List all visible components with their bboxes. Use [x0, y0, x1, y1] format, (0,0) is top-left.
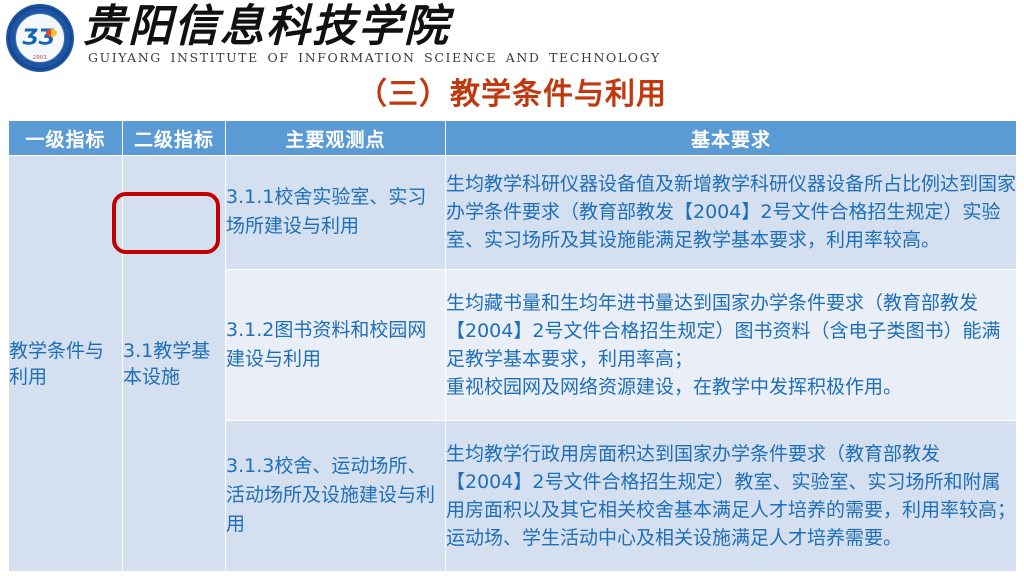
cell-level2: 3.1教学基本设施	[123, 156, 226, 572]
cell-requirement: 生均教学行政用房面积达到国家办学条件要求（教育部教发【2004】2号文件合格招生…	[446, 420, 1017, 571]
cell-requirement: 生均教学科研仪器设备值及新增教学科研仪器设备所占比例达到国家办学条件要求（教育部…	[446, 156, 1017, 270]
column-header-level1: 一级指标	[9, 121, 123, 156]
indicator-table: 一级指标 二级指标 主要观测点 基本要求 教学条件与利用 3.1教学基本设施 3…	[8, 120, 1017, 572]
university-crest-icon: ƷƷ 2001	[6, 4, 74, 72]
crest-dot-icon	[46, 29, 57, 37]
page-title: （三）教学条件与利用	[0, 74, 1024, 116]
table-row: 教学条件与利用 3.1教学基本设施 3.1.1校舍实验室、实习场所建设与利用 生…	[9, 156, 1017, 270]
brand-name-en: GUIYANG INSTITUTE OF INFORMATION SCIENCE…	[88, 50, 661, 65]
column-header-observation: 主要观测点	[226, 121, 446, 156]
crest-year: 2001	[6, 55, 74, 61]
cell-observation: 3.1.2图书资料和校园网建设与利用	[226, 269, 446, 420]
brand-header: ƷƷ 2001 贵阳信息科技学院 GUIYANG INSTITUTE OF IN…	[0, 0, 1024, 74]
cell-level1: 教学条件与利用	[9, 156, 123, 572]
cell-observation: 3.1.3校舍、运动场所、活动场所及设施建设与利用	[226, 420, 446, 571]
column-header-level2: 二级指标	[123, 121, 226, 156]
table-header-row: 一级指标 二级指标 主要观测点 基本要求	[9, 121, 1017, 156]
cell-requirement: 生均藏书量和生均年进书量达到国家办学条件要求（教育部教发【2004】2号文件合格…	[446, 269, 1017, 420]
column-header-requirement: 基本要求	[446, 121, 1017, 156]
brand-name-cn: 贵阳信息科技学院	[82, 2, 450, 52]
cell-observation: 3.1.1校舍实验室、实习场所建设与利用	[226, 156, 446, 270]
